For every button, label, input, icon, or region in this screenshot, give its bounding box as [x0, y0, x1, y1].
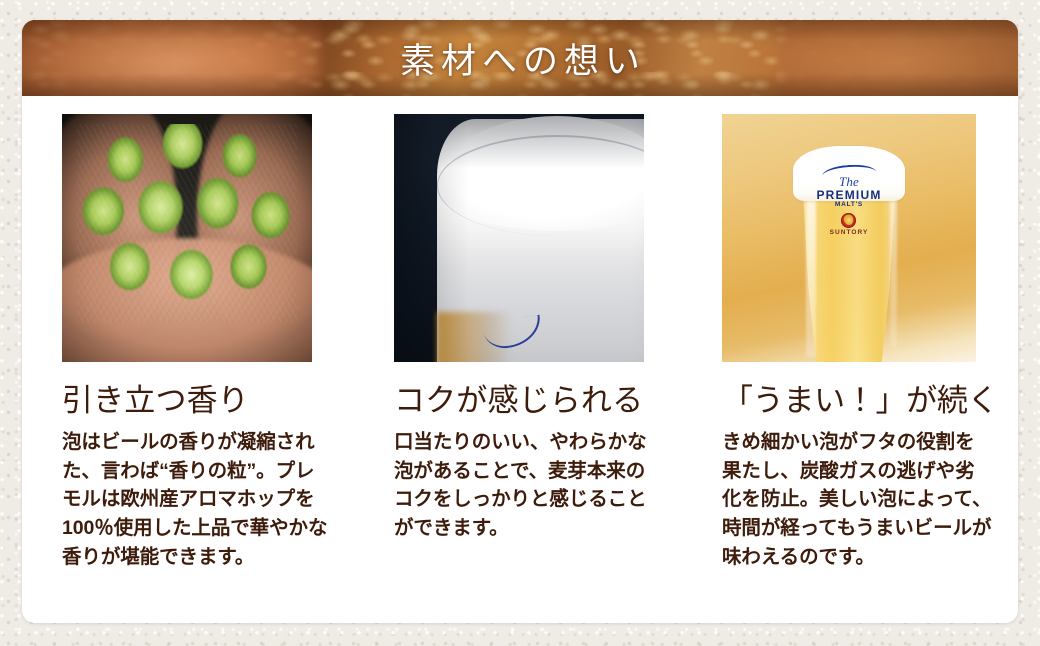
feature-column-lasting-taste: The PREMIUM MALT'S SUNTORY 「うまい！」が続く きめ細… — [686, 114, 1018, 572]
hands-holding-green-hops-photo — [62, 114, 312, 362]
feature-body-text: 泡はビールの香りが凝縮された、言わば“香りの粒”。プレモルは欧州産アロマホップを… — [62, 428, 331, 572]
feature-column-richness: コクが感じられる 口当たりのいい、やわらかな泡があることで、麦芽本来のコクをしっ… — [354, 114, 686, 572]
hops-photo-leaf-texture — [77, 124, 297, 322]
hops-photo-cone-cluster — [77, 124, 297, 322]
glass-photo-foam-head — [793, 146, 905, 201]
feature-columns: 引き立つ香り 泡はビールの香りが凝縮された、言わば“香りの粒”。プレモルは欧州産… — [22, 96, 1018, 572]
feature-body-text: きめ細かい泡がフタの役割を果たし、炭酸ガスの逃げや劣化を防止。美しい泡によって、… — [722, 428, 992, 572]
premium-malts-beer-glass-photo: The PREMIUM MALT'S SUNTORY — [722, 114, 976, 362]
feature-body-text: 口当たりのいい、やわらかな泡があることで、麦芽本来のコクをしっかりと感じることが… — [394, 428, 663, 543]
foam-photo-shadow-overlay — [394, 114, 644, 362]
feature-heading: コクが感じられる — [394, 384, 663, 419]
beer-glass-foam-closeup-photo — [394, 114, 644, 362]
section-header-banner: 素材への想い — [22, 20, 1018, 96]
feature-heading: 引き立つ香り — [62, 384, 331, 419]
content-card: 素材への想い 引き立つ香り 泡はビールの香りが凝縮された、言わば“香りの粒”。プ… — [22, 20, 1018, 623]
page-title: 素材への想い — [22, 20, 1018, 96]
feature-column-aroma: 引き立つ香り 泡はビールの香りが凝縮された、言わば“香りの粒”。プレモルは欧州産… — [22, 114, 354, 572]
feature-heading: 「うまい！」が続く — [722, 384, 992, 419]
